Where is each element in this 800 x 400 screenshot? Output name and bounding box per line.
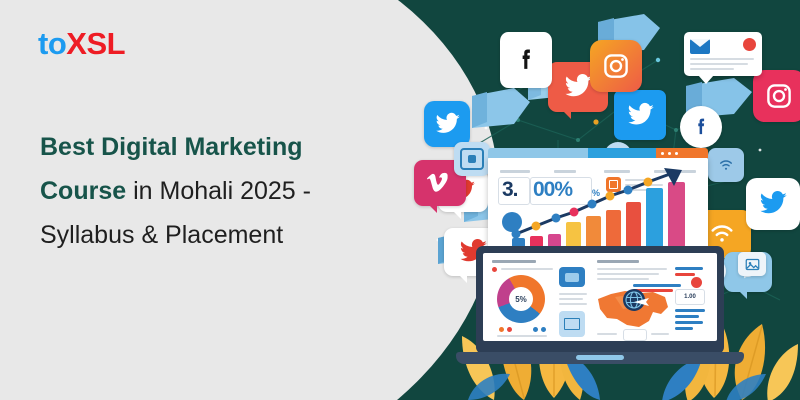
digital-marketing-illustration: 3. 00% % — [408, 0, 800, 400]
alert-dot-icon — [691, 277, 702, 288]
panel-text-line — [559, 298, 583, 300]
ribbon-shape-top — [470, 88, 532, 137]
twitter-icon-2[interactable] — [614, 90, 666, 140]
panel-title-right — [597, 260, 639, 263]
laptop-base — [456, 352, 744, 364]
progress-bar — [675, 309, 705, 312]
card-text-line — [690, 68, 734, 70]
panel-title-left — [492, 260, 536, 263]
laptop-device: 5% — [476, 246, 724, 354]
mail-notification-card[interactable] — [684, 32, 762, 76]
camera-glyph-icon — [460, 148, 484, 170]
dashboard-tab-blue — [488, 148, 588, 158]
mail-icon — [690, 39, 710, 54]
facebook-icon[interactable] — [500, 32, 552, 88]
logo-text-sl: SL — [86, 26, 125, 61]
panel-text-line — [597, 268, 667, 270]
trend-line — [488, 156, 708, 254]
legend-dot — [541, 327, 546, 332]
twitter-icon[interactable] — [424, 101, 470, 147]
kpi-box-right: 1.00 — [675, 289, 705, 305]
legend-label — [501, 268, 553, 270]
logo-text-to: to — [38, 26, 66, 61]
wifi-chip-icon[interactable] — [708, 148, 744, 182]
laptop-trackpad-notch — [576, 355, 624, 360]
instagram-icon-2[interactable] — [753, 70, 800, 122]
logo-text-x: X — [66, 26, 86, 61]
kpi-value: 1.00 — [676, 290, 704, 304]
instagram-icon[interactable] — [590, 40, 642, 92]
panel-text-line — [497, 335, 547, 337]
donut-value: 5% — [515, 295, 527, 304]
legend-dot — [499, 327, 504, 332]
legend-dot — [533, 327, 538, 332]
page-title: Best Digital Marketing Course in Mohali … — [40, 125, 390, 257]
toxsl-logo[interactable]: toXSL — [38, 28, 125, 59]
dashboard-tab-orange — [656, 148, 708, 158]
progress-bar — [675, 267, 703, 270]
panel-text-line — [651, 333, 669, 335]
card-text-line — [690, 58, 754, 60]
legend-dot — [492, 267, 497, 272]
twitter-icon-3[interactable] — [746, 178, 800, 230]
donut-center: 5% — [509, 287, 533, 311]
progress-bar — [675, 273, 695, 276]
dashboard-tab-blue-2 — [588, 148, 656, 158]
panel-text-line — [597, 273, 659, 275]
laptop-screen[interactable]: 5% — [483, 253, 717, 341]
legend-dot — [507, 327, 512, 332]
panel-text-line — [597, 333, 617, 335]
progress-bar — [675, 315, 699, 318]
app-chip-icon[interactable] — [454, 142, 490, 176]
kpi-box-small — [623, 329, 647, 341]
chat-widget-icon — [559, 267, 585, 287]
metric-bubble-icon — [502, 212, 522, 232]
alert-badge-icon — [743, 38, 756, 51]
monitor-widget-icon — [559, 311, 585, 337]
progress-bar — [675, 327, 693, 330]
panel-text-line — [597, 278, 649, 280]
card-text-line — [690, 63, 748, 65]
panel-text-line — [559, 293, 587, 295]
card-pointer — [698, 75, 714, 84]
progress-bar — [675, 321, 703, 324]
analytics-dashboard-card[interactable]: 3. 00% % — [488, 156, 708, 254]
plane-icon — [633, 295, 651, 309]
panel-text-line — [559, 303, 587, 305]
marketing-banner: toXSL Best Digital Marketing Course in M… — [0, 0, 800, 400]
facebook-circle-icon[interactable] — [680, 106, 722, 148]
